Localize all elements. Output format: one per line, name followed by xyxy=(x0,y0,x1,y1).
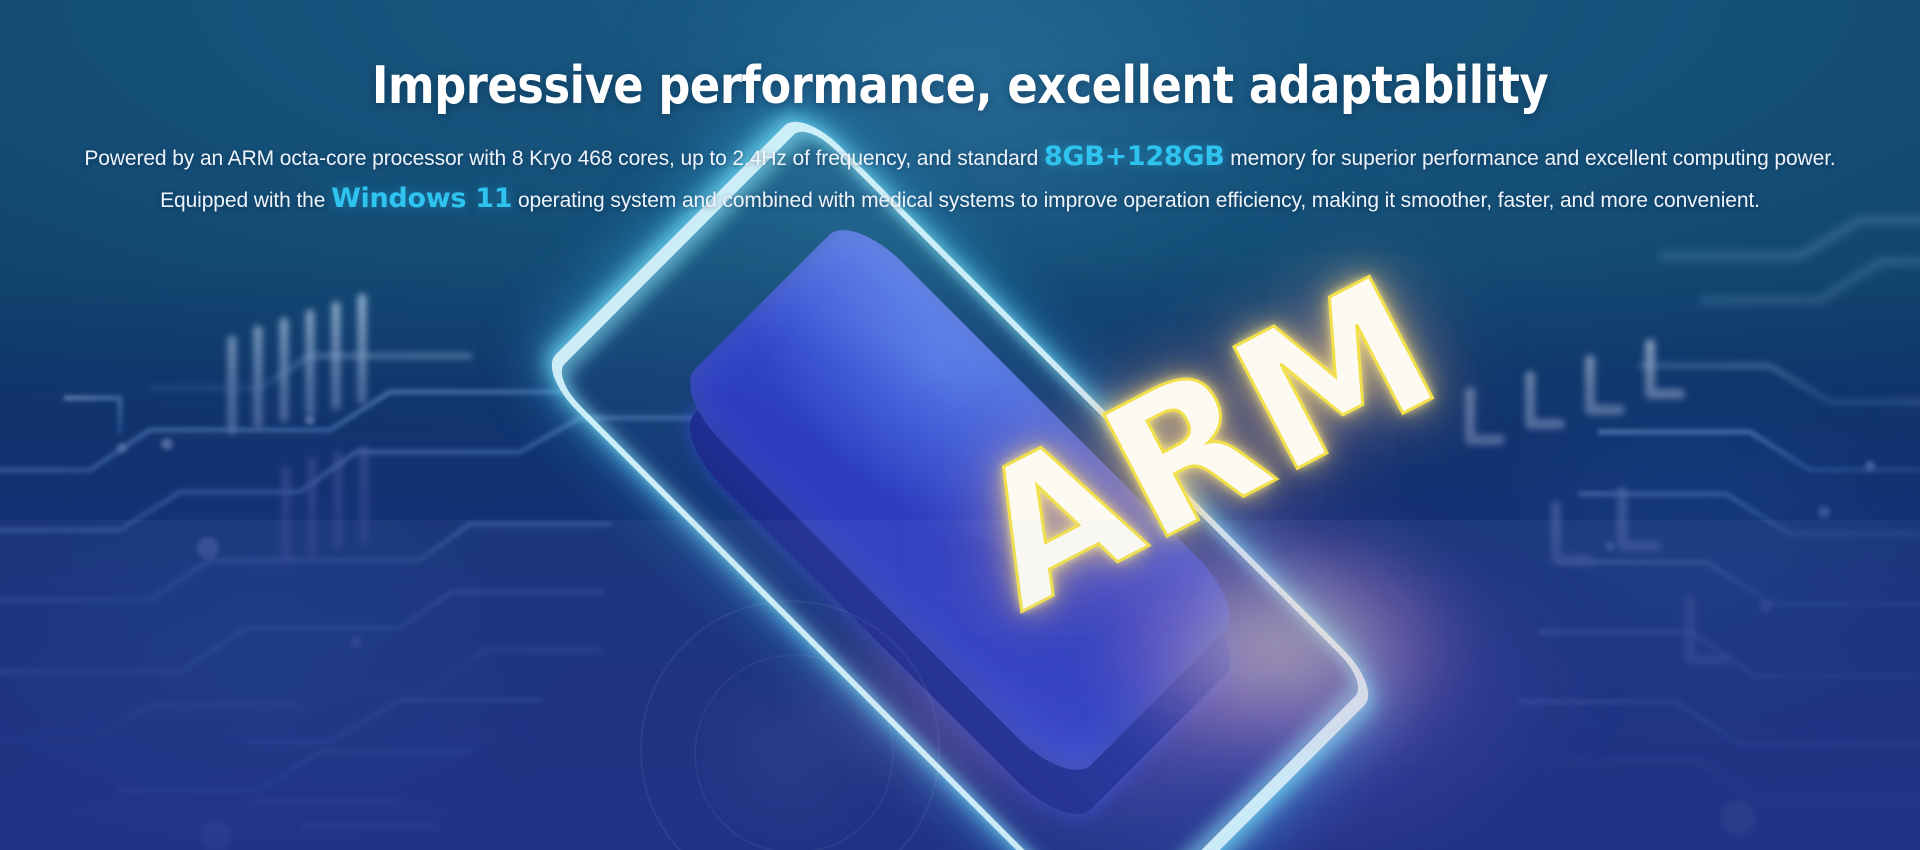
banner-text-block: Impressive performance, excellent adapta… xyxy=(0,0,1920,221)
description-paragraph-1: Powered by an ARM octa-core processor wi… xyxy=(80,137,1840,179)
banner-description: Powered by an ARM octa-core processor wi… xyxy=(0,137,1920,221)
paragraph-2-text-before: Equipped with the xyxy=(160,189,331,212)
arm-chip-illustration: ARM xyxy=(330,250,1590,810)
paragraph-2-text-after: operating system and combined with medic… xyxy=(512,189,1760,212)
paragraph-1-text-after: memory for superior performance and exce… xyxy=(1225,147,1836,170)
paragraph-1-text-before: Powered by an ARM octa-core processor wi… xyxy=(84,147,1044,170)
memory-spec-highlight: 8GB+128GB xyxy=(1044,141,1225,172)
page-title: Impressive performance, excellent adapta… xyxy=(134,58,1785,115)
os-name-highlight: Windows 11 xyxy=(331,183,512,214)
product-feature-banner: ARM Impressive performance, excellent ad… xyxy=(0,0,1920,850)
description-paragraph-2: Equipped with the Windows 11 operating s… xyxy=(80,179,1840,221)
